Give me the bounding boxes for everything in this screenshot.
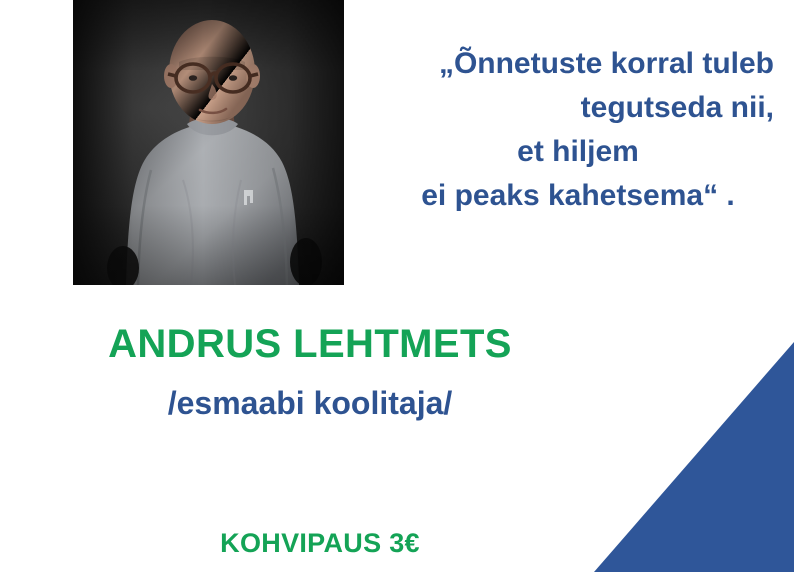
coffee-break-note: KOHVIPAUS 3€ bbox=[0, 528, 640, 559]
quote-line-1: „Õnnetuste korral tuleb bbox=[372, 42, 784, 86]
quote-line-2: tegutseda nii, bbox=[372, 86, 784, 130]
speaker-photo bbox=[73, 0, 344, 285]
quote-line-3: et hiljem bbox=[372, 130, 784, 174]
photo-vignette bbox=[73, 0, 344, 285]
quote-line-4: ei peaks kahetsema“ . bbox=[372, 174, 784, 218]
speaker-name: ANDRUS LEHTMETS bbox=[0, 322, 620, 367]
speaker-role: /esmaabi koolitaja/ bbox=[0, 385, 620, 422]
slide-canvas: „Õnnetuste korral tuleb tegutseda nii, e… bbox=[0, 0, 794, 572]
quote-block: „Õnnetuste korral tuleb tegutseda nii, e… bbox=[372, 42, 784, 218]
